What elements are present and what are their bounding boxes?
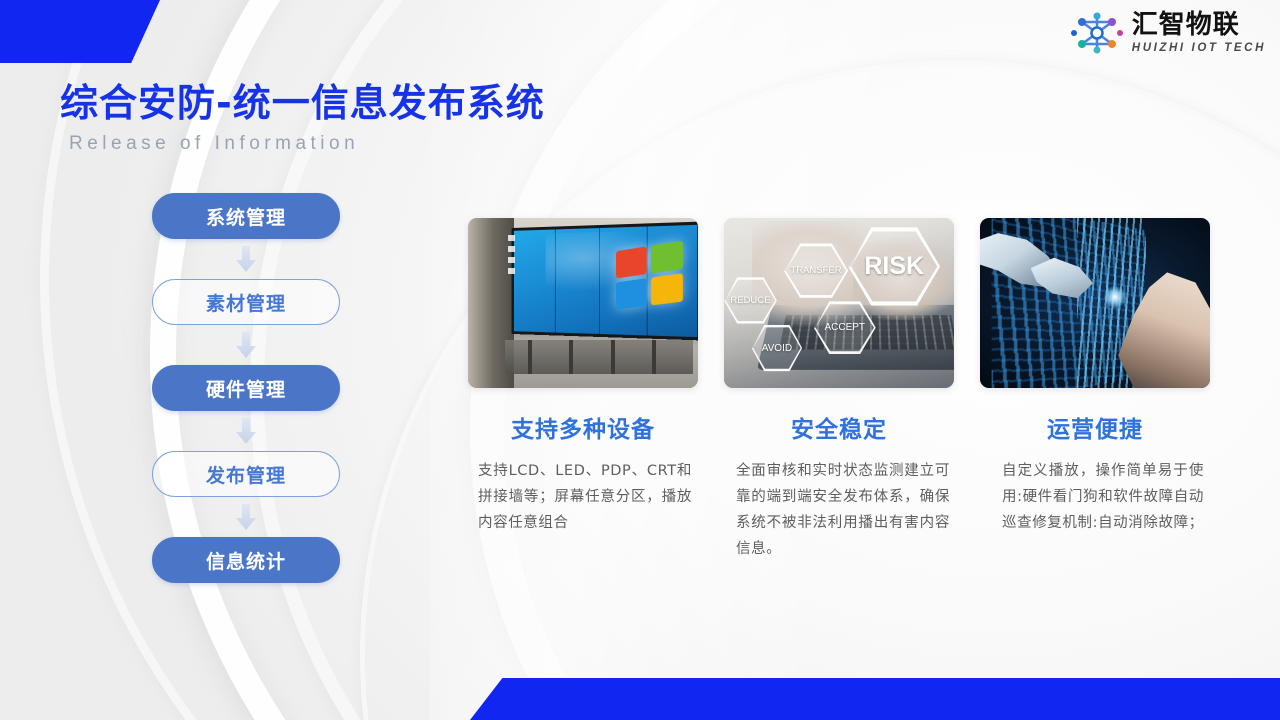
- feature-card-title: 支持多种设备: [468, 410, 698, 444]
- arrow-down-icon: [233, 411, 259, 451]
- arrow-down-icon-glyph: [235, 416, 257, 446]
- feature-card-easy-operation: 机械手与人手在蓝色数字光幕前相触 运营便捷 自定义播放，操作简单易于使用:硬件看…: [980, 218, 1210, 562]
- feature-card-title: 安全稳定: [724, 410, 954, 444]
- flow-step-information-statistics[interactable]: 信息统计: [152, 537, 340, 583]
- network-nodes-icon: [1071, 10, 1123, 56]
- taskbar-icons: [508, 235, 515, 274]
- hexagon-transfer-label: TRANSFER: [790, 265, 841, 276]
- brand-logo: 汇智物联 HUIZHI IOT TECH: [1071, 10, 1266, 56]
- page-title: 综合安防-统一信息发布系统: [60, 72, 545, 127]
- bottom-right-accent-bar: [470, 678, 1280, 720]
- arrow-down-icon-glyph: [235, 502, 257, 532]
- flow-step-label: 硬件管理: [206, 375, 286, 402]
- page-subtitle: Release of Information: [69, 133, 545, 155]
- feature-card-body: 全面审核和实时状态监测建立可靠的端到端安全发布体系，确保系统不被非法利用播出有害…: [724, 458, 954, 562]
- flow-step-system-management[interactable]: 系统管理: [152, 193, 340, 239]
- robot-hand-photo: 机械手与人手在蓝色数字光幕前相触: [980, 218, 1210, 388]
- slide-canvas: 汇智物联 HUIZHI IOT TECH 综合安防-统一信息发布系统 Relea…: [0, 0, 1280, 720]
- hexagon-avoid-label: AVOID: [762, 343, 792, 354]
- arrow-down-icon: [233, 239, 259, 279]
- process-flow-list: 系统管理 素材管理 硬件管理: [152, 193, 340, 583]
- feature-card-title: 运营便捷: [980, 410, 1210, 444]
- video-wall-photo: LCD 拼接屏视频墙，屏幕显示 Windows 桌面: [468, 218, 698, 388]
- hexagon-reduce-label: REDUCE: [730, 295, 770, 306]
- flow-step-label: 发布管理: [206, 461, 286, 488]
- feature-card-body: 自定义播放，操作简单易于使用:硬件看门狗和软件故障自动巡查修复机制:自动消除故障…: [980, 458, 1210, 536]
- logo-name-en: HUIZHI IOT TECH: [1132, 43, 1266, 55]
- flow-step-label: 信息统计: [206, 547, 286, 574]
- feature-card-row: LCD 拼接屏视频墙，屏幕显示 Windows 桌面 支持多种设备 支持LCD、…: [468, 218, 1210, 562]
- risk-hexagon-photo: RISK TRANSFER REDUCE ACCEPT AVOID 双手在笔记本…: [724, 218, 954, 388]
- flow-step-label: 素材管理: [206, 289, 286, 316]
- flow-step-publish-management[interactable]: 发布管理: [152, 451, 340, 497]
- top-left-accent-shape: [0, 0, 160, 63]
- feature-card-multi-device: LCD 拼接屏视频墙，屏幕显示 Windows 桌面 支持多种设备 支持LCD、…: [468, 218, 698, 562]
- title-block: 综合安防-统一信息发布系统 Release of Information: [60, 72, 545, 155]
- arrow-down-icon: [233, 325, 259, 365]
- feature-card-secure-stable: RISK TRANSFER REDUCE ACCEPT AVOID 双手在笔记本…: [724, 218, 954, 562]
- hexagon-accept-label: ACCEPT: [824, 322, 865, 333]
- feature-card-body: 支持LCD、LED、PDP、CRT和拼接墙等；屏幕任意分区，播放内容任意组合: [468, 458, 698, 536]
- arrow-down-icon-glyph: [235, 330, 257, 360]
- windows-logo-icon: [615, 241, 682, 310]
- flow-step-hardware-management[interactable]: 硬件管理: [152, 365, 340, 411]
- arrow-down-icon: [233, 497, 259, 537]
- flow-step-material-management[interactable]: 素材管理: [152, 279, 340, 325]
- flow-step-label: 系统管理: [206, 203, 286, 230]
- hexagon-risk-label: RISK: [864, 252, 924, 281]
- logo-name-cn: 汇智物联: [1132, 12, 1266, 38]
- arrow-down-icon-glyph: [235, 244, 257, 274]
